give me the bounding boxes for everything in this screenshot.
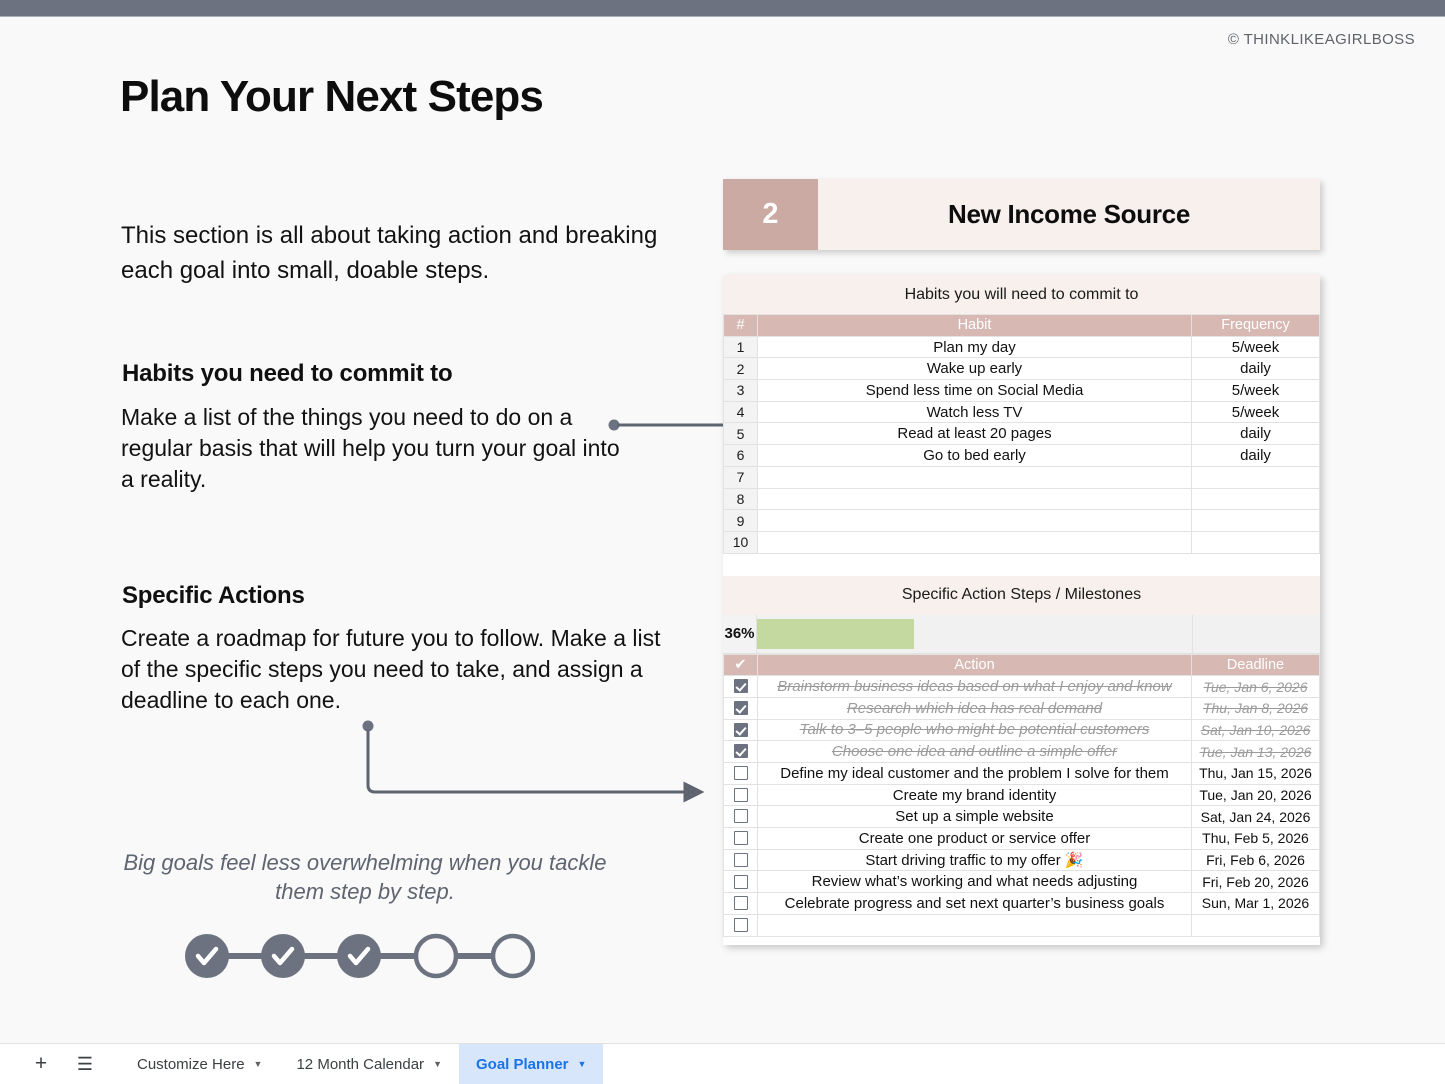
action-text[interactable]: Start driving traffic to my offer 🎉 xyxy=(758,849,1192,871)
step-progress-graphic xyxy=(185,933,535,979)
section-heading-habits: Habits you need to commit to xyxy=(122,360,452,388)
habit-name[interactable] xyxy=(758,488,1192,510)
action-deadline[interactable]: Thu, Feb 5, 2026 xyxy=(1192,828,1320,850)
actions-col-deadline: Deadline xyxy=(1192,654,1320,676)
copyright-notice: © THINKLIKEAGIRLBOSS xyxy=(1228,31,1415,48)
goal-title: New Income Source xyxy=(818,179,1320,250)
action-text[interactable]: Choose one idea and outline a simple off… xyxy=(758,741,1192,763)
action-text[interactable]: Brainstorm business ideas based on what … xyxy=(758,676,1192,698)
page-title: Plan Your Next Steps xyxy=(120,72,543,122)
habits-col-habit: Habit xyxy=(758,315,1192,337)
checkbox-icon[interactable] xyxy=(734,766,748,780)
action-checkbox-cell[interactable] xyxy=(724,741,758,763)
action-text[interactable]: Define my ideal customer and the problem… xyxy=(758,763,1192,785)
habits-row[interactable]: 4Watch less TV5/week xyxy=(724,401,1320,423)
habit-name[interactable] xyxy=(758,510,1192,532)
habit-frequency[interactable]: 5/week xyxy=(1192,336,1320,358)
intro-paragraph: This section is all about taking action … xyxy=(121,218,681,288)
habit-index: 6 xyxy=(724,445,758,467)
action-text[interactable]: Celebrate progress and set next quarter’… xyxy=(758,893,1192,915)
habits-row[interactable]: 9 xyxy=(724,510,1320,532)
habit-index: 1 xyxy=(724,336,758,358)
habits-row[interactable]: 8 xyxy=(724,488,1320,510)
sheet-tab-goal-planner[interactable]: Goal Planner▼ xyxy=(459,1044,603,1084)
action-checkbox-cell[interactable] xyxy=(724,719,758,741)
step-dot-4 xyxy=(416,936,456,976)
progress-percent-label: 36% xyxy=(723,615,757,653)
habits-row[interactable]: 10 xyxy=(724,531,1320,553)
action-checkbox-cell[interactable] xyxy=(724,828,758,850)
habit-frequency[interactable] xyxy=(1192,488,1320,510)
step-dot-2 xyxy=(261,934,305,978)
sheet-tab-label: 12 Month Calendar xyxy=(296,1056,424,1073)
checkbox-icon[interactable] xyxy=(734,853,748,867)
checkbox-icon[interactable] xyxy=(734,809,748,823)
add-sheet-icon[interactable]: + xyxy=(24,1047,58,1081)
habit-frequency[interactable]: 5/week xyxy=(1192,401,1320,423)
action-row[interactable]: Create my brand identityTue, Jan 20, 202… xyxy=(724,784,1320,806)
action-text[interactable]: Set up a simple website xyxy=(758,806,1192,828)
habit-index: 10 xyxy=(724,531,758,553)
habit-index: 3 xyxy=(724,380,758,402)
goal-title-bar: 2 New Income Source xyxy=(723,179,1320,250)
chevron-down-icon[interactable]: ▼ xyxy=(254,1059,263,1069)
action-checkbox-cell[interactable] xyxy=(724,806,758,828)
progress-row: 36% xyxy=(723,615,1320,654)
habits-row[interactable]: 3Spend less time on Social Media5/week xyxy=(724,380,1320,402)
action-checkbox-cell[interactable] xyxy=(724,784,758,806)
action-row[interactable]: Celebrate progress and set next quarter’… xyxy=(724,893,1320,915)
habits-table: # Habit Frequency 1Plan my day5/week2Wak… xyxy=(723,314,1320,554)
checkbox-icon[interactable] xyxy=(734,875,748,889)
checkbox-icon[interactable] xyxy=(734,788,748,802)
habits-row[interactable]: 5Read at least 20 pagesdaily xyxy=(724,423,1320,445)
window-top-bar xyxy=(0,0,1445,17)
checkbox-icon[interactable] xyxy=(734,701,748,715)
action-checkbox-cell[interactable] xyxy=(724,893,758,915)
action-checkbox-cell[interactable] xyxy=(724,849,758,871)
habit-frequency[interactable] xyxy=(1192,531,1320,553)
action-checkbox-cell[interactable] xyxy=(724,871,758,893)
actions-band-title: Specific Action Steps / Milestones xyxy=(723,576,1320,615)
action-row[interactable]: Choose one idea and outline a simple off… xyxy=(724,741,1320,763)
habit-index: 5 xyxy=(724,423,758,445)
progress-tail-cell xyxy=(1192,615,1320,653)
habit-name[interactable]: Wake up early xyxy=(758,358,1192,380)
action-deadline[interactable]: Sun, Mar 1, 2026 xyxy=(1192,893,1320,915)
actions-table: ✔ Action Deadline Brainstorm business id… xyxy=(723,654,1320,937)
habit-name[interactable] xyxy=(758,466,1192,488)
habit-index: 9 xyxy=(724,510,758,532)
slide-canvas: © THINKLIKEAGIRLBOSS Plan Your Next Step… xyxy=(0,0,1445,1084)
habits-row[interactable]: 6Go to bed earlydaily xyxy=(724,445,1320,467)
checkbox-icon[interactable] xyxy=(734,918,748,932)
action-text[interactable]: Create my brand identity xyxy=(758,784,1192,806)
step-dot-1 xyxy=(185,934,229,978)
action-row[interactable]: Talk to 3–5 people who might be potentia… xyxy=(724,719,1320,741)
sheet-tab-label: Goal Planner xyxy=(476,1056,569,1073)
action-row[interactable]: Research which idea has real demandThu, … xyxy=(724,697,1320,719)
action-deadline[interactable]: Tue, Jan 6, 2026 xyxy=(1192,676,1320,698)
connector-actions xyxy=(363,721,701,793)
action-deadline[interactable] xyxy=(1192,914,1320,936)
motivational-quote: Big goals feel less overwhelming when yo… xyxy=(120,848,610,906)
action-checkbox-cell[interactable] xyxy=(724,763,758,785)
habits-band-title: Habits you will need to commit to xyxy=(723,275,1320,314)
goal-number-badge: 2 xyxy=(723,179,818,250)
sheet-tabs: Customize Here▼12 Month Calendar▼Goal Pl… xyxy=(120,1044,603,1084)
action-deadline[interactable]: Sat, Jan 10, 2026 xyxy=(1192,719,1320,741)
action-row[interactable]: Set up a simple websiteSat, Jan 24, 2026 xyxy=(724,806,1320,828)
habit-name[interactable]: Read at least 20 pages xyxy=(758,423,1192,445)
action-text[interactable] xyxy=(758,914,1192,936)
progress-track xyxy=(757,615,1192,653)
section-heading-actions: Specific Actions xyxy=(122,582,305,610)
habit-index: 2 xyxy=(724,358,758,380)
all-sheets-menu-icon[interactable]: ☰ xyxy=(68,1047,102,1081)
section-gap xyxy=(723,554,1320,576)
action-deadline[interactable]: Thu, Jan 15, 2026 xyxy=(1192,763,1320,785)
action-row[interactable] xyxy=(724,914,1320,936)
action-text[interactable]: Review what’s working and what needs adj… xyxy=(758,871,1192,893)
habit-frequency[interactable]: daily xyxy=(1192,423,1320,445)
habit-frequency[interactable] xyxy=(1192,510,1320,532)
goal-sheet-body: Habits you will need to commit to # Habi… xyxy=(723,275,1320,945)
actions-header-row: ✔ Action Deadline xyxy=(724,654,1320,676)
habits-row[interactable]: 2Wake up earlydaily xyxy=(724,358,1320,380)
habit-name[interactable]: Spend less time on Social Media xyxy=(758,380,1192,402)
action-row[interactable]: Define my ideal customer and the problem… xyxy=(724,763,1320,785)
step-dot-5 xyxy=(493,936,533,976)
action-deadline[interactable]: Fri, Feb 20, 2026 xyxy=(1192,871,1320,893)
habit-index: 7 xyxy=(724,466,758,488)
action-text[interactable]: Research which idea has real demand xyxy=(758,697,1192,719)
action-deadline[interactable]: Tue, Jan 20, 2026 xyxy=(1192,784,1320,806)
action-row[interactable]: Create one product or service offerThu, … xyxy=(724,828,1320,850)
action-text[interactable]: Talk to 3–5 people who might be potentia… xyxy=(758,719,1192,741)
action-deadline[interactable]: Sat, Jan 24, 2026 xyxy=(1192,806,1320,828)
action-deadline[interactable]: Thu, Jan 8, 2026 xyxy=(1192,697,1320,719)
habit-name[interactable] xyxy=(758,531,1192,553)
step-dot-3 xyxy=(337,934,381,978)
checkbox-icon[interactable] xyxy=(734,744,748,758)
action-deadline[interactable]: Fri, Feb 6, 2026 xyxy=(1192,849,1320,871)
sheet-tab-label: Customize Here xyxy=(137,1056,245,1073)
habit-name[interactable]: Plan my day xyxy=(758,336,1192,358)
habit-name[interactable]: Watch less TV xyxy=(758,401,1192,423)
habits-header-row: # Habit Frequency xyxy=(724,315,1320,337)
habit-frequency[interactable]: 5/week xyxy=(1192,380,1320,402)
action-text[interactable]: Create one product or service offer xyxy=(758,828,1192,850)
sheet-tab-bar: + ☰ Customize Here▼12 Month Calendar▼Goa… xyxy=(0,1043,1445,1084)
habit-name[interactable]: Go to bed early xyxy=(758,445,1192,467)
sheet-tab-customize-here[interactable]: Customize Here▼ xyxy=(120,1044,279,1084)
actions-col-action: Action xyxy=(758,654,1192,676)
sheet-tab-12-month-calendar[interactable]: 12 Month Calendar▼ xyxy=(279,1044,459,1084)
section-body-habits: Make a list of the things you need to do… xyxy=(121,402,621,495)
chevron-down-icon[interactable]: ▼ xyxy=(578,1059,587,1069)
action-row[interactable]: Brainstorm business ideas based on what … xyxy=(724,676,1320,698)
chevron-down-icon[interactable]: ▼ xyxy=(433,1059,442,1069)
habit-frequency[interactable] xyxy=(1192,466,1320,488)
habit-index: 8 xyxy=(724,488,758,510)
action-checkbox-cell[interactable] xyxy=(724,676,758,698)
action-checkbox-cell[interactable] xyxy=(724,697,758,719)
checkbox-icon[interactable] xyxy=(734,679,748,693)
habit-frequency[interactable]: daily xyxy=(1192,445,1320,467)
checkbox-icon[interactable] xyxy=(734,723,748,737)
action-deadline[interactable]: Tue, Jan 13, 2026 xyxy=(1192,741,1320,763)
action-checkbox-cell[interactable] xyxy=(724,914,758,936)
habits-row[interactable]: 1Plan my day5/week xyxy=(724,336,1320,358)
habits-col-index: # xyxy=(724,315,758,337)
action-row[interactable]: Review what’s working and what needs adj… xyxy=(724,871,1320,893)
habits-col-freq: Frequency xyxy=(1192,315,1320,337)
habit-index: 4 xyxy=(724,401,758,423)
section-body-actions: Create a roadmap for future you to follo… xyxy=(121,623,681,716)
actions-col-check: ✔ xyxy=(724,654,758,676)
checkbox-icon[interactable] xyxy=(734,831,748,845)
checkbox-icon[interactable] xyxy=(734,896,748,910)
habit-frequency[interactable]: daily xyxy=(1192,358,1320,380)
habits-row[interactable]: 7 xyxy=(724,466,1320,488)
action-row[interactable]: Start driving traffic to my offer 🎉Fri, … xyxy=(724,849,1320,871)
progress-fill xyxy=(757,619,914,649)
